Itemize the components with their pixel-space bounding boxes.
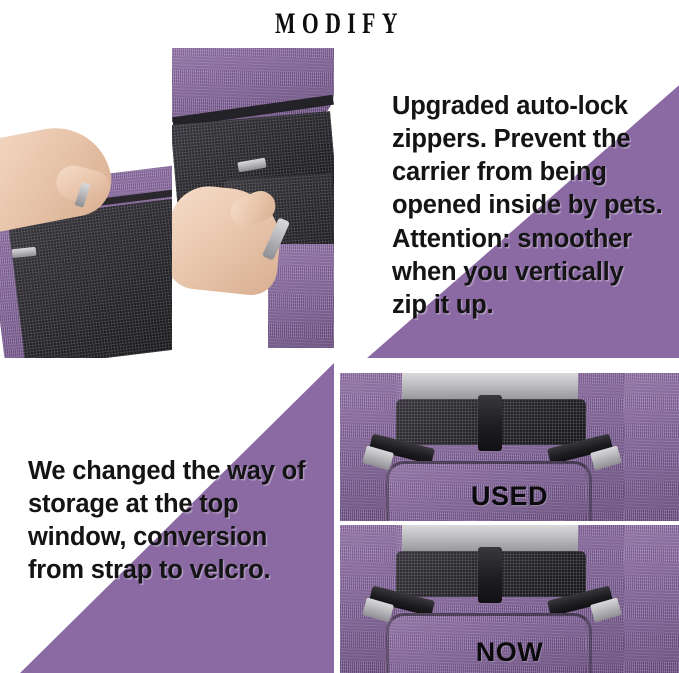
retention-strap (478, 395, 502, 451)
velcro-patch (478, 547, 502, 603)
page-title-bar: MODIFY (0, 0, 679, 48)
zipper-copy-text: Upgraded auto-lock zippers. Prevent the … (392, 90, 664, 322)
panel-storage-copy: We changed the way of storage at the top… (0, 363, 334, 673)
photo-zipper-left (0, 48, 172, 358)
panel-used-vs-now: USED NOW (340, 363, 679, 673)
panel-zipper-photos (0, 48, 334, 358)
status-badge-used: USED (340, 481, 679, 512)
panel-zipper-copy: Upgraded auto-lock zippers. Prevent the … (340, 48, 679, 358)
status-badge-now: NOW (340, 637, 679, 668)
storage-copy-text: We changed the way of storage at the top… (28, 455, 318, 588)
photo-used: USED (340, 373, 679, 521)
photo-zipper-right (172, 48, 334, 348)
photo-now: NOW (340, 525, 679, 673)
page-title: MODIFY (275, 7, 404, 41)
